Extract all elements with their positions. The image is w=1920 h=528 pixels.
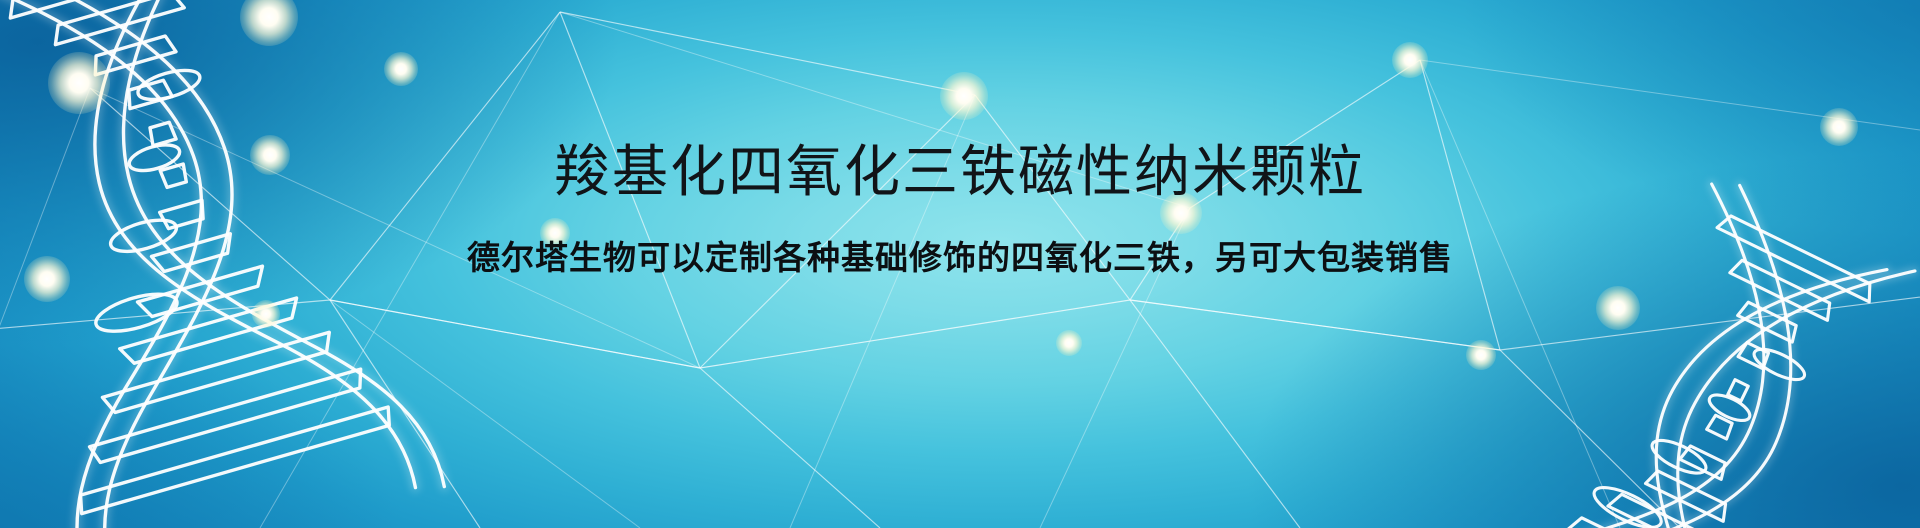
page-subtitle: 德尔塔生物可以定制各种基础修饰的四氧化三铁，另可大包装销售 [0,238,1920,278]
product-banner: 羧基化四氧化三铁磁性纳米颗粒 德尔塔生物可以定制各种基础修饰的四氧化三铁，另可大… [0,0,1920,528]
page-title: 羧基化四氧化三铁磁性纳米颗粒 [0,141,1920,203]
